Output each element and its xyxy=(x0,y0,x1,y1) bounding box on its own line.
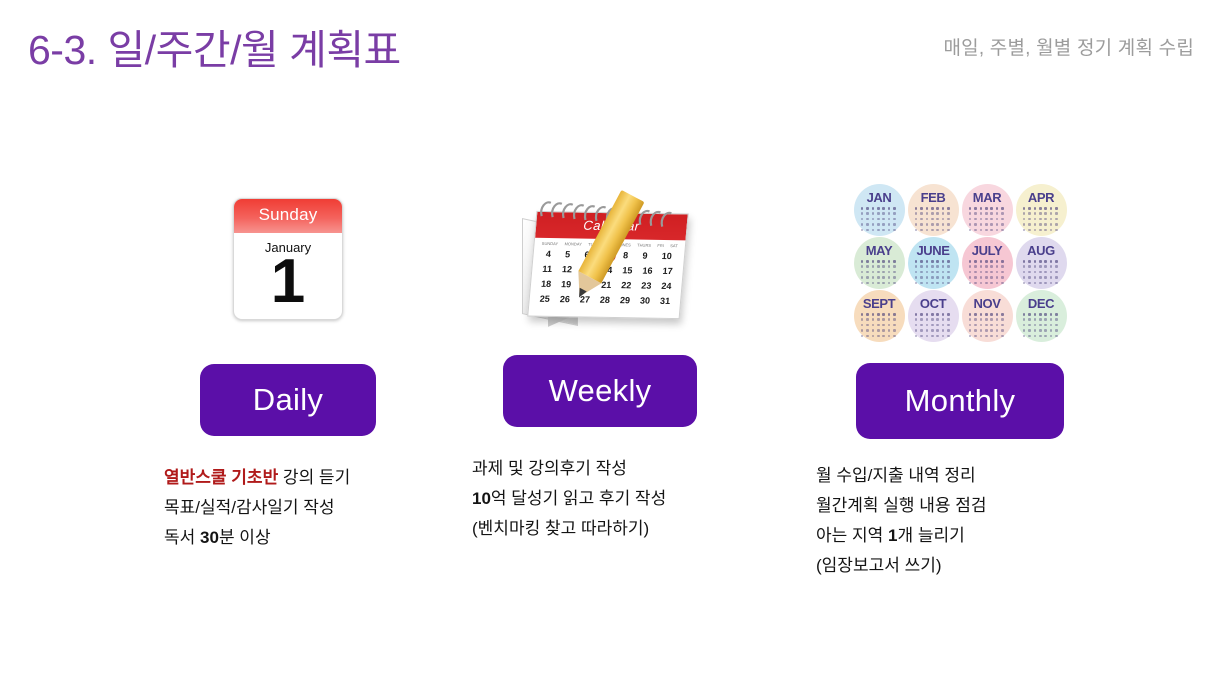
desk-calendar-pencil-icon: Calendar SUNDAYMONDAYTUESDAYWEDNESTHURSF… xyxy=(508,194,693,334)
desk-weekday-label: SAT xyxy=(669,243,677,248)
plan-columns: Sunday January 1 Daily 열반스쿨 기초반 강의 듣기목표/… xyxy=(0,180,1216,620)
plan-column-weekly: Calendar SUNDAYMONDAYTUESDAYWEDNESTHURSF… xyxy=(430,180,770,544)
month-label: NOV xyxy=(974,297,1001,310)
month-date-dots xyxy=(1023,313,1059,339)
task-line-segment: 개 늘리기 xyxy=(897,526,964,545)
month-date-dots xyxy=(969,207,1005,233)
desk-date-row: 25262728293031 xyxy=(534,292,676,309)
month-date-dots xyxy=(1023,260,1059,286)
weekly-icon-wrap: Calendar SUNDAYMONDAYTUESDAYWEDNESTHURSF… xyxy=(430,180,770,355)
month-label: JULY xyxy=(972,244,1002,257)
desk-weekday-label: MONDAY xyxy=(564,241,582,246)
month-date-dots xyxy=(915,313,951,339)
task-line-segment: 억 달성기 읽고 후기 작성 xyxy=(491,489,666,508)
month-label: OCT xyxy=(920,297,946,310)
month-date-dots xyxy=(969,313,1005,339)
desk-date: 18 xyxy=(540,277,551,292)
desk-date: 8 xyxy=(622,248,628,263)
monthly-task-list: 월 수입/지출 내역 정리월간계획 실행 내용 점검아는 지역 1개 늘리기(임… xyxy=(790,461,1130,581)
task-line-segment: 강의 듣기 xyxy=(278,468,350,487)
desk-date: 11 xyxy=(541,262,552,277)
month-date-dots xyxy=(861,207,897,233)
page-title: 6-3. 일/주간/월 계획표 xyxy=(28,16,401,76)
month-circle: DEC xyxy=(1016,290,1067,342)
task-line: 월간계획 실행 내용 점검 xyxy=(816,491,1130,521)
desk-date: 22 xyxy=(620,278,631,293)
task-line: 과제 및 강의후기 작성 xyxy=(472,454,770,484)
month-circle: JUNE xyxy=(908,237,959,289)
daily-task-list: 열반스쿨 기초반 강의 듣기목표/실적/감사일기 작성독서 30분 이상 xyxy=(118,463,458,553)
calendar-weekday-label: Sunday xyxy=(234,199,342,233)
desk-date: 30 xyxy=(639,294,650,309)
task-line-segment: 30 xyxy=(200,528,219,547)
month-circle: NOV xyxy=(962,290,1013,342)
task-line-segment: 월간계획 실행 내용 점검 xyxy=(816,496,987,515)
desk-weekday-label: THURS xyxy=(636,243,650,248)
desk-date: 9 xyxy=(641,249,647,264)
monthly-button[interactable]: Monthly xyxy=(856,363,1064,439)
desk-date: 26 xyxy=(559,292,570,307)
desk-date: 16 xyxy=(641,264,652,279)
task-line-segment: 분 이상 xyxy=(219,528,271,547)
page-subtitle: 매일, 주별, 월별 정기 계획 수립 xyxy=(943,33,1194,60)
month-label: AUG xyxy=(1027,244,1055,257)
task-line: 열반스쿨 기초반 강의 듣기 xyxy=(164,463,458,493)
daily-icon-wrap: Sunday January 1 xyxy=(118,180,458,355)
task-line-segment: 아는 지역 xyxy=(816,526,888,545)
desk-date: 17 xyxy=(661,264,672,279)
task-line-segment: 과제 및 강의후기 작성 xyxy=(472,459,627,478)
desk-date: 12 xyxy=(561,262,572,277)
desk-date: 23 xyxy=(640,279,651,294)
month-label: MAR xyxy=(973,191,1001,204)
desk-date: 5 xyxy=(564,247,570,262)
desk-date: 10 xyxy=(661,249,672,264)
weekly-task-list: 과제 및 강의후기 작성10억 달성기 읽고 후기 작성(벤치마킹 찾고 따라하… xyxy=(430,454,770,544)
month-date-dots xyxy=(915,207,951,233)
desk-date: 15 xyxy=(621,263,632,278)
month-label: JAN xyxy=(867,191,892,204)
month-circle: MAR xyxy=(962,184,1013,236)
month-label: APR xyxy=(1028,191,1054,204)
month-circle: APR xyxy=(1016,184,1067,236)
task-line-segment: 독서 xyxy=(164,528,200,547)
desk-weekday-label: SUNDAY xyxy=(541,241,558,246)
task-line: 아는 지역 1개 늘리기 xyxy=(816,521,1130,551)
monthly-icon-wrap: JANFEBMARAPRMAYJUNEJULYAUGSEPTOCTNOVDEC xyxy=(790,180,1130,355)
month-date-dots xyxy=(861,260,897,286)
task-line-segment: 열반스쿨 기초반 xyxy=(164,468,278,487)
desk-date: 25 xyxy=(539,292,550,307)
desk-date: 24 xyxy=(660,279,671,294)
task-line: (벤치마킹 찾고 따라하기) xyxy=(472,514,770,544)
task-line-segment: (임장보고서 쓰기) xyxy=(816,556,942,575)
desk-date: 4 xyxy=(545,247,551,262)
month-label: JUNE xyxy=(916,244,949,257)
calendar-day-number: 1 xyxy=(234,251,342,313)
month-label: MAY xyxy=(866,244,893,257)
month-circle: OCT xyxy=(908,290,959,342)
month-circle: JAN xyxy=(854,184,905,236)
task-line-segment: 목표/실적/감사일기 작성 xyxy=(164,498,335,517)
plan-column-daily: Sunday January 1 Daily 열반스쿨 기초반 강의 듣기목표/… xyxy=(118,180,458,553)
task-line-segment: 10 xyxy=(472,489,491,508)
daily-button[interactable]: Daily xyxy=(200,364,376,436)
month-circle: AUG xyxy=(1016,237,1067,289)
task-line-segment: (벤치마킹 찾고 따라하기) xyxy=(472,519,649,538)
month-circle: MAY xyxy=(854,237,905,289)
desk-date: 28 xyxy=(599,293,610,308)
task-line: (임장보고서 쓰기) xyxy=(816,551,1130,581)
month-date-dots xyxy=(861,313,897,339)
month-circle: SEPT xyxy=(854,290,905,342)
task-line: 월 수입/지출 내역 정리 xyxy=(816,461,1130,491)
desk-weekday-label: FRI xyxy=(657,243,664,248)
twelve-month-circles-icon: JANFEBMARAPRMAYJUNEJULYAUGSEPTOCTNOVDEC xyxy=(854,184,1067,342)
calendar-day-page-icon: Sunday January 1 xyxy=(233,198,343,320)
weekly-button[interactable]: Weekly xyxy=(503,355,697,427)
month-circle: FEB xyxy=(908,184,959,236)
month-circle: JULY xyxy=(962,237,1013,289)
task-line: 10억 달성기 읽고 후기 작성 xyxy=(472,484,770,514)
desk-date: 29 xyxy=(619,293,630,308)
month-label: SEPT xyxy=(863,297,895,310)
slide-root: 6-3. 일/주간/월 계획표 매일, 주별, 월별 정기 계획 수립 Sund… xyxy=(0,0,1216,684)
task-line-segment: 월 수입/지출 내역 정리 xyxy=(816,466,976,485)
month-date-dots xyxy=(1023,207,1059,233)
month-label: DEC xyxy=(1028,297,1054,310)
month-date-dots xyxy=(969,260,1005,286)
task-line: 독서 30분 이상 xyxy=(164,523,458,553)
month-label: FEB xyxy=(921,191,946,204)
plan-column-monthly: JANFEBMARAPRMAYJUNEJULYAUGSEPTOCTNOVDEC … xyxy=(790,180,1130,581)
task-line: 목표/실적/감사일기 작성 xyxy=(164,493,458,523)
month-date-dots xyxy=(915,260,951,286)
desk-date: 31 xyxy=(659,294,670,309)
